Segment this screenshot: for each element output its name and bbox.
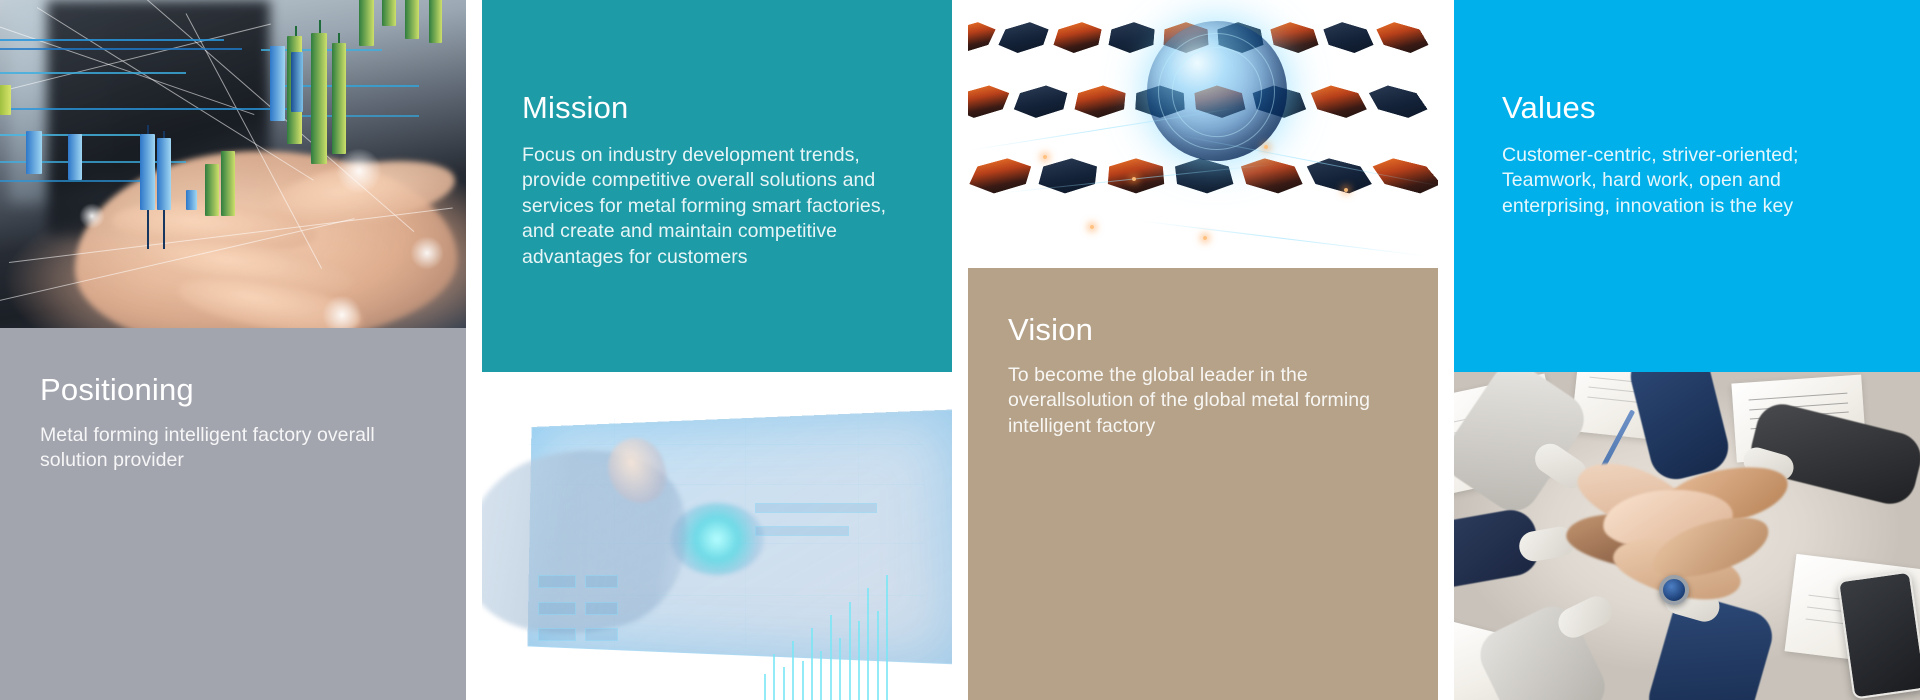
data-chip bbox=[755, 526, 849, 536]
column-vision: Vision To become the global leader in th… bbox=[968, 0, 1438, 700]
spark-glow bbox=[1344, 188, 1348, 192]
column-gap bbox=[466, 0, 482, 700]
globe-meridian bbox=[1154, 29, 1279, 154]
data-chip bbox=[585, 602, 618, 615]
bar-graph-bar bbox=[764, 674, 766, 700]
candle-body bbox=[311, 33, 327, 164]
column-values: Values Customer-centric, striver-oriente… bbox=[1454, 0, 1920, 700]
panel-positioning: Positioning Metal forming intelligent fa… bbox=[0, 328, 466, 700]
bokeh-glow bbox=[410, 236, 444, 270]
panel-vision: Vision To become the global leader in th… bbox=[968, 268, 1438, 700]
column-positioning: Positioning Metal forming intelligent fa… bbox=[0, 0, 466, 700]
trend-line bbox=[0, 39, 224, 41]
bokeh-glow bbox=[336, 148, 382, 194]
trend-line bbox=[0, 180, 140, 182]
bar-graph-bar bbox=[792, 641, 794, 700]
data-chip bbox=[585, 575, 618, 588]
trend-line bbox=[0, 48, 242, 50]
spark-glow bbox=[1264, 145, 1268, 149]
glass-globe-hexagon-network-image bbox=[968, 0, 1438, 268]
candle-body bbox=[405, 0, 419, 39]
candle-body bbox=[140, 134, 155, 209]
bar-graph-bar bbox=[802, 661, 804, 700]
data-chip bbox=[538, 628, 576, 641]
team-stacking-hands-image bbox=[1454, 372, 1920, 700]
bar-graph-bar bbox=[877, 611, 879, 700]
data-chip bbox=[585, 628, 618, 641]
data-chip bbox=[538, 602, 576, 615]
vision-heading: Vision bbox=[1008, 314, 1398, 347]
finger-touching-data-screen-image bbox=[482, 372, 952, 700]
values-board: Positioning Metal forming intelligent fa… bbox=[0, 0, 1920, 700]
values-heading: Values bbox=[1502, 92, 1880, 125]
candle-body bbox=[332, 43, 346, 155]
candle-body bbox=[157, 138, 171, 210]
column-gap bbox=[1438, 0, 1454, 700]
bar-graph-bar bbox=[811, 628, 813, 700]
bokeh-glow bbox=[322, 295, 362, 328]
mission-heading: Mission bbox=[522, 92, 912, 125]
values-body: Customer-centric, striver-oriented; Team… bbox=[1502, 143, 1880, 220]
vision-body: To become the global leader in the overa… bbox=[1008, 363, 1398, 440]
column-gap bbox=[952, 0, 968, 700]
bar-graph-bar bbox=[773, 654, 775, 700]
candle-body bbox=[359, 0, 374, 46]
hand-holding-candlestick-chart-image bbox=[0, 0, 466, 328]
column-mission: Mission Focus on industry development tr… bbox=[482, 0, 952, 700]
bar-graph-bar bbox=[820, 651, 822, 700]
bar-graph-bar bbox=[849, 602, 851, 700]
data-chip bbox=[755, 503, 877, 513]
mission-body: Focus on industry development trends, pr… bbox=[522, 143, 912, 271]
panel-mission: Mission Focus on industry development tr… bbox=[482, 0, 952, 372]
glass-globe bbox=[1147, 21, 1287, 161]
candle-body bbox=[205, 164, 219, 216]
bar-graph-bar bbox=[867, 588, 869, 700]
data-chip bbox=[538, 575, 576, 588]
candle-body bbox=[429, 0, 442, 43]
candle-body bbox=[26, 131, 42, 174]
positioning-heading: Positioning bbox=[40, 374, 426, 407]
positioning-body: Metal forming intelligent factory overal… bbox=[40, 423, 426, 474]
trend-line bbox=[0, 72, 186, 74]
screen-gridline bbox=[529, 444, 924, 445]
candle-body bbox=[291, 52, 303, 111]
screen-gridline bbox=[858, 418, 859, 648]
bar-graph-bar bbox=[830, 615, 832, 700]
panel-values: Values Customer-centric, striver-oriente… bbox=[1454, 0, 1920, 372]
candle-body bbox=[68, 134, 83, 180]
candle-body bbox=[221, 151, 235, 217]
candle-body bbox=[270, 46, 285, 121]
candle-body bbox=[0, 85, 11, 115]
bar-graph-bar bbox=[886, 575, 888, 700]
candle-body bbox=[186, 190, 196, 210]
bar-graph-bar bbox=[839, 638, 841, 700]
trend-line bbox=[0, 108, 289, 110]
bar-graph-bar bbox=[783, 667, 785, 700]
bar-graph-bar bbox=[858, 621, 860, 700]
spark-glow bbox=[1203, 236, 1207, 240]
candle-body bbox=[382, 0, 396, 26]
trend-line bbox=[289, 115, 419, 117]
